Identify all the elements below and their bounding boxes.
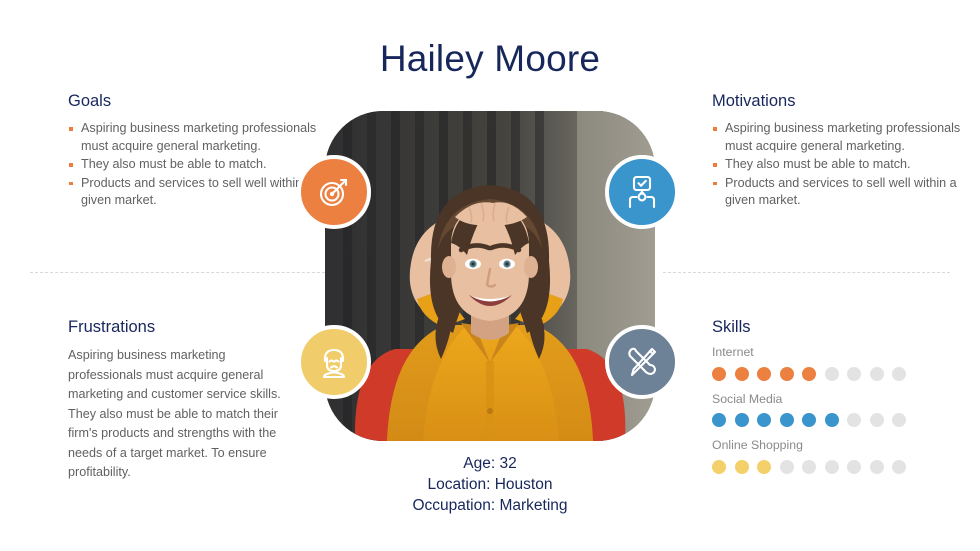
- rating-dot-filled: [780, 367, 794, 381]
- rating-dot-empty: [847, 413, 861, 427]
- rating-dot-filled: [825, 413, 839, 427]
- list-item: They also must be able to match.: [68, 156, 318, 174]
- persona-photo-illustration: [325, 111, 655, 441]
- rating-dot-filled: [735, 367, 749, 381]
- goals-section: Goals Aspiring business marketing profes…: [68, 92, 318, 211]
- rating-dot-filled: [735, 413, 749, 427]
- sad-face-icon: [316, 344, 352, 380]
- list-item: Aspiring business marketing professional…: [712, 120, 962, 155]
- rating-dot-filled: [712, 460, 726, 474]
- location-line: Location: Houston: [325, 474, 655, 495]
- skill-rating-dots: [712, 460, 952, 474]
- page-title: Hailey Moore: [0, 38, 980, 80]
- frustrations-badge[interactable]: [297, 325, 371, 399]
- skill-label: Social Media: [712, 393, 952, 407]
- target-icon: [316, 174, 352, 210]
- rating-dot-filled: [712, 367, 726, 381]
- frustrations-section: Frustrations Aspiring business marketing…: [68, 318, 298, 483]
- skill-label: Internet: [712, 346, 952, 360]
- skill-online-shopping: Online Shopping: [712, 439, 952, 474]
- wrench-pencil-icon: [624, 344, 660, 380]
- rating-dot-empty: [780, 460, 794, 474]
- list-item: Products and services to sell well withi…: [68, 175, 318, 210]
- list-item: Aspiring business marketing professional…: [68, 120, 318, 155]
- skill-internet: Internet: [712, 346, 952, 381]
- rating-dot-empty: [870, 367, 884, 381]
- rating-dot-empty: [825, 367, 839, 381]
- rating-dot-filled: [780, 413, 794, 427]
- occupation-line: Occupation: Marketing: [325, 495, 655, 516]
- divider-left: [30, 272, 335, 273]
- skills-badge[interactable]: [605, 325, 679, 399]
- rating-dot-empty: [825, 460, 839, 474]
- skills-section: Skills Internet Social Media Online Shop…: [712, 318, 952, 486]
- divider-right: [663, 272, 950, 273]
- rating-dot-empty: [892, 413, 906, 427]
- rating-dot-empty: [802, 460, 816, 474]
- skill-rating-dots: [712, 367, 952, 381]
- skills-heading: Skills: [712, 318, 952, 336]
- rating-dot-filled: [735, 460, 749, 474]
- skill-social-media: Social Media: [712, 393, 952, 428]
- age-line: Age: 32: [325, 453, 655, 474]
- rating-dot-filled: [712, 413, 726, 427]
- rating-dot-filled: [802, 367, 816, 381]
- skill-label: Online Shopping: [712, 439, 952, 453]
- skill-rating-dots: [712, 413, 952, 427]
- rating-dot-filled: [757, 460, 771, 474]
- motivations-list: Aspiring business marketing professional…: [712, 120, 962, 210]
- motivations-heading: Motivations: [712, 92, 962, 110]
- goals-badge[interactable]: [297, 155, 371, 229]
- persona-photo-container: [325, 111, 655, 441]
- rating-dot-filled: [757, 413, 771, 427]
- rating-dot-empty: [870, 413, 884, 427]
- rating-dot-empty: [892, 460, 906, 474]
- rating-dot-filled: [802, 413, 816, 427]
- rating-dot-filled: [757, 367, 771, 381]
- rating-dot-empty: [847, 367, 861, 381]
- goals-heading: Goals: [68, 92, 318, 110]
- frustrations-heading: Frustrations: [68, 318, 298, 336]
- motivations-badge[interactable]: [605, 155, 679, 229]
- frustrations-text: Aspiring business marketing professional…: [68, 346, 298, 483]
- persona-photo: [325, 111, 655, 441]
- motivations-section: Motivations Aspiring business marketing …: [712, 92, 962, 211]
- rating-dot-empty: [892, 367, 906, 381]
- list-item: They also must be able to match.: [712, 156, 962, 174]
- rating-dot-empty: [847, 460, 861, 474]
- hands-check-icon: [624, 174, 660, 210]
- goals-list: Aspiring business marketing professional…: [68, 120, 318, 210]
- list-item: Products and services to sell well withi…: [712, 175, 962, 210]
- persona-details: Age: 32 Location: Houston Occupation: Ma…: [325, 453, 655, 516]
- rating-dot-empty: [870, 460, 884, 474]
